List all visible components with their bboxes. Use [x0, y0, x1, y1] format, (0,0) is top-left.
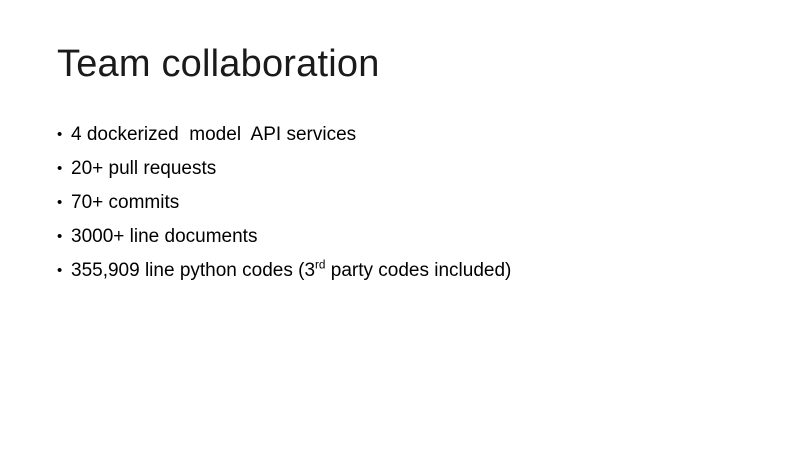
list-item-text: 355,909 line python codes (3 [71, 260, 315, 281]
list-item-label: 20+ pull requests [71, 152, 216, 186]
bullet-list: • 4 dockerized model API services • 20+ … [57, 118, 737, 288]
list-item: • 70+ commits [57, 186, 737, 220]
presentation-slide: Team collaboration • 4 dockerized model … [0, 0, 800, 450]
list-item-label: 3000+ line documents [71, 220, 257, 254]
bullet-point-icon: • [57, 152, 71, 186]
bullet-point-icon: • [57, 118, 71, 152]
list-item: • 3000+ line documents [57, 220, 737, 254]
list-item: • 355,909 line python codes (3rd party c… [57, 254, 737, 288]
list-item-label: 70+ commits [71, 186, 179, 220]
bullet-point-icon: • [57, 220, 71, 254]
bullet-point-icon: • [57, 186, 71, 220]
list-item-label: 355,909 line python codes (3rd party cod… [71, 254, 511, 288]
page-title: Team collaboration [57, 43, 380, 87]
list-item-text: 70+ commits [71, 192, 179, 213]
list-item: • 4 dockerized model API services [57, 118, 737, 152]
list-item-text: 3000+ line documents [71, 226, 257, 247]
list-item: • 20+ pull requests [57, 152, 737, 186]
list-item-text: 4 dockerized model API services [71, 124, 356, 145]
list-item-label: 4 dockerized model API services [71, 118, 356, 152]
bullet-point-icon: • [57, 254, 71, 288]
list-item-text-tail: party codes included) [325, 260, 511, 281]
list-item-text: 20+ pull requests [71, 158, 216, 179]
ordinal-superscript: rd [315, 259, 325, 272]
